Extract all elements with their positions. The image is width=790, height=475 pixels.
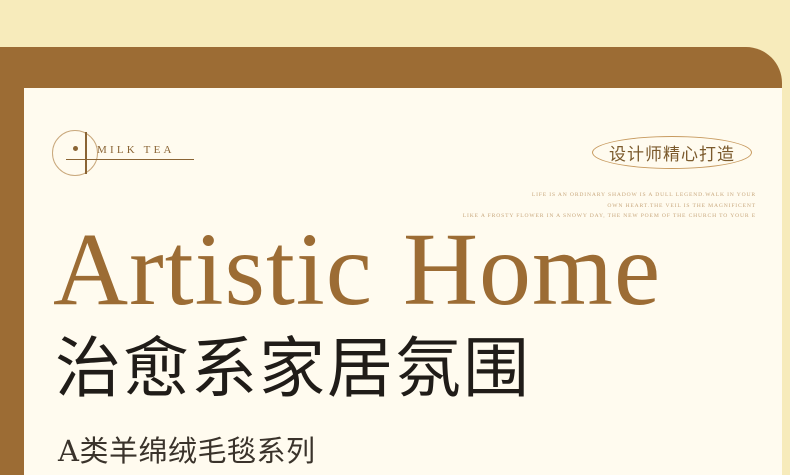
micro-copy-line-1: LIFE IS AN ORDINARY SHADOW IS A DULL LEG… bbox=[456, 190, 756, 201]
designer-badge: 设计师精心打造 bbox=[592, 136, 752, 169]
headline-english-word-2: Home bbox=[403, 212, 661, 327]
logo-vertical-rule-icon bbox=[85, 132, 87, 174]
logo-circle-icon bbox=[52, 130, 98, 176]
micro-copy-line-2: OWN HEART.THE VEIL IS THE MAGNIFICENT bbox=[456, 201, 756, 212]
product-series-subhead: A类羊绵绒毛毯系列 bbox=[58, 428, 315, 470]
headline-english-word-1: Artistic bbox=[53, 212, 373, 327]
poster-canvas: MILK TEA 设计师精心打造 LIFE IS AN ORDINARY SHA… bbox=[0, 0, 790, 475]
headline-chinese: 治愈系家居氛围 bbox=[55, 333, 531, 404]
brand-logo: MILK TEA bbox=[52, 128, 202, 184]
logo-horizontal-rule-icon bbox=[66, 159, 194, 160]
headline-english: ArtisticHome bbox=[53, 218, 661, 322]
logo-dot-icon bbox=[73, 146, 78, 151]
logo-wordmark: MILK TEA bbox=[97, 144, 175, 156]
designer-badge-label: 设计师精心打造 bbox=[609, 140, 735, 165]
